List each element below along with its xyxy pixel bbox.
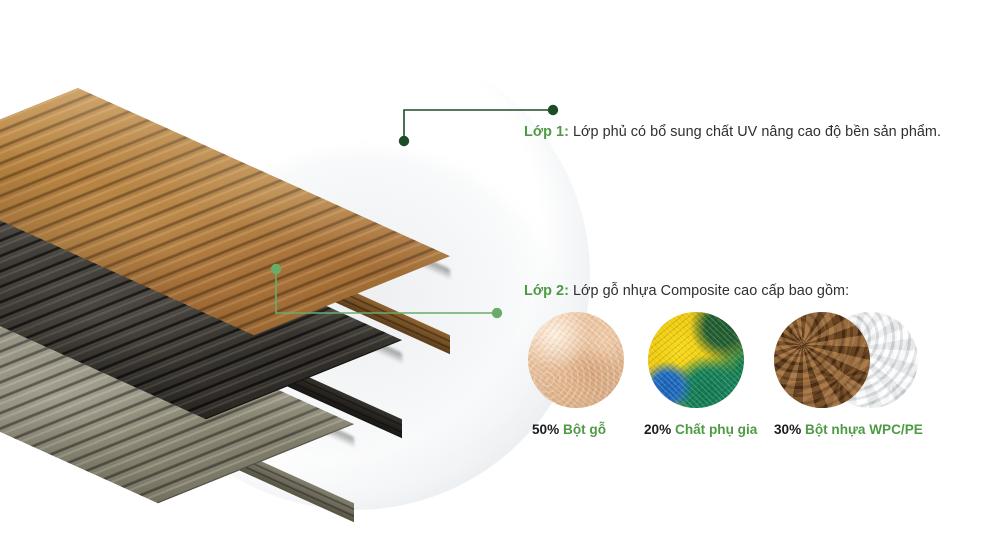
material-wpc-pe: 30% Bột nhựa WPC/PE: [774, 312, 914, 437]
pigment-additive-powder-icon: [648, 312, 744, 408]
material-wood-flour: 50% Bột gỗ: [524, 312, 664, 437]
material-label-wpc-pe: 30% Bột nhựa WPC/PE: [774, 422, 914, 437]
connector-end-dot-layer1: [548, 105, 558, 115]
material-percent-additives: 20%: [644, 422, 671, 437]
callout-layer-1: Lớp 1: Lớp phủ có bổ sung chất UV nâng c…: [524, 122, 944, 143]
decking-board-stack: [0, 80, 470, 410]
teak-brown-board: [78, 88, 488, 298]
callout-layer-2-body: Lớp gỗ nhựa Composite cao cấp bao gồm:: [569, 283, 849, 299]
swatch-wrap-wood-flour: [524, 312, 664, 408]
callout-layer-2-text: Lớp 2: Lớp gỗ nhựa Composite cao cấp bao…: [524, 281, 964, 302]
material-label-wood-flour: 50% Bột gỗ: [524, 422, 664, 437]
material-percent-wood-flour: 50%: [532, 422, 559, 437]
swatch-wrap-additives: [644, 312, 784, 408]
wpc-pellets-icon: [774, 312, 870, 408]
callout-layer-1-body: Lớp phủ có bổ sung chất UV nâng cao độ b…: [569, 124, 941, 140]
material-name-additives: Chất phụ gia: [671, 422, 757, 437]
infographic-canvas: Lớp 1: Lớp phủ có bổ sung chất UV nâng c…: [0, 0, 1000, 553]
material-percent-wpc-pe: 30%: [774, 422, 801, 437]
callout-layer-2: Lớp 2: Lớp gỗ nhựa Composite cao cấp bao…: [524, 281, 964, 302]
material-name-wood-flour: Bột gỗ: [559, 422, 606, 437]
wood-flour-powder-icon: [528, 312, 624, 408]
callout-layer-1-lead: Lớp 1:: [524, 124, 569, 140]
callout-layer-2-lead: Lớp 2:: [524, 283, 569, 299]
swatch-wrap-wpc-pe: [774, 312, 914, 408]
material-label-additives: 20% Chất phụ gia: [644, 422, 784, 437]
material-name-wpc-pe: Bột nhựa WPC/PE: [801, 422, 923, 437]
material-additives: 20% Chất phụ gia: [644, 312, 784, 437]
connector-end-dot-layer2: [492, 308, 502, 318]
material-composition-group: 50% Bột gỗ 20% Chất phụ gia 30% Bột nhựa…: [524, 312, 964, 452]
callout-layer-1-text: Lớp 1: Lớp phủ có bổ sung chất UV nâng c…: [524, 122, 944, 143]
